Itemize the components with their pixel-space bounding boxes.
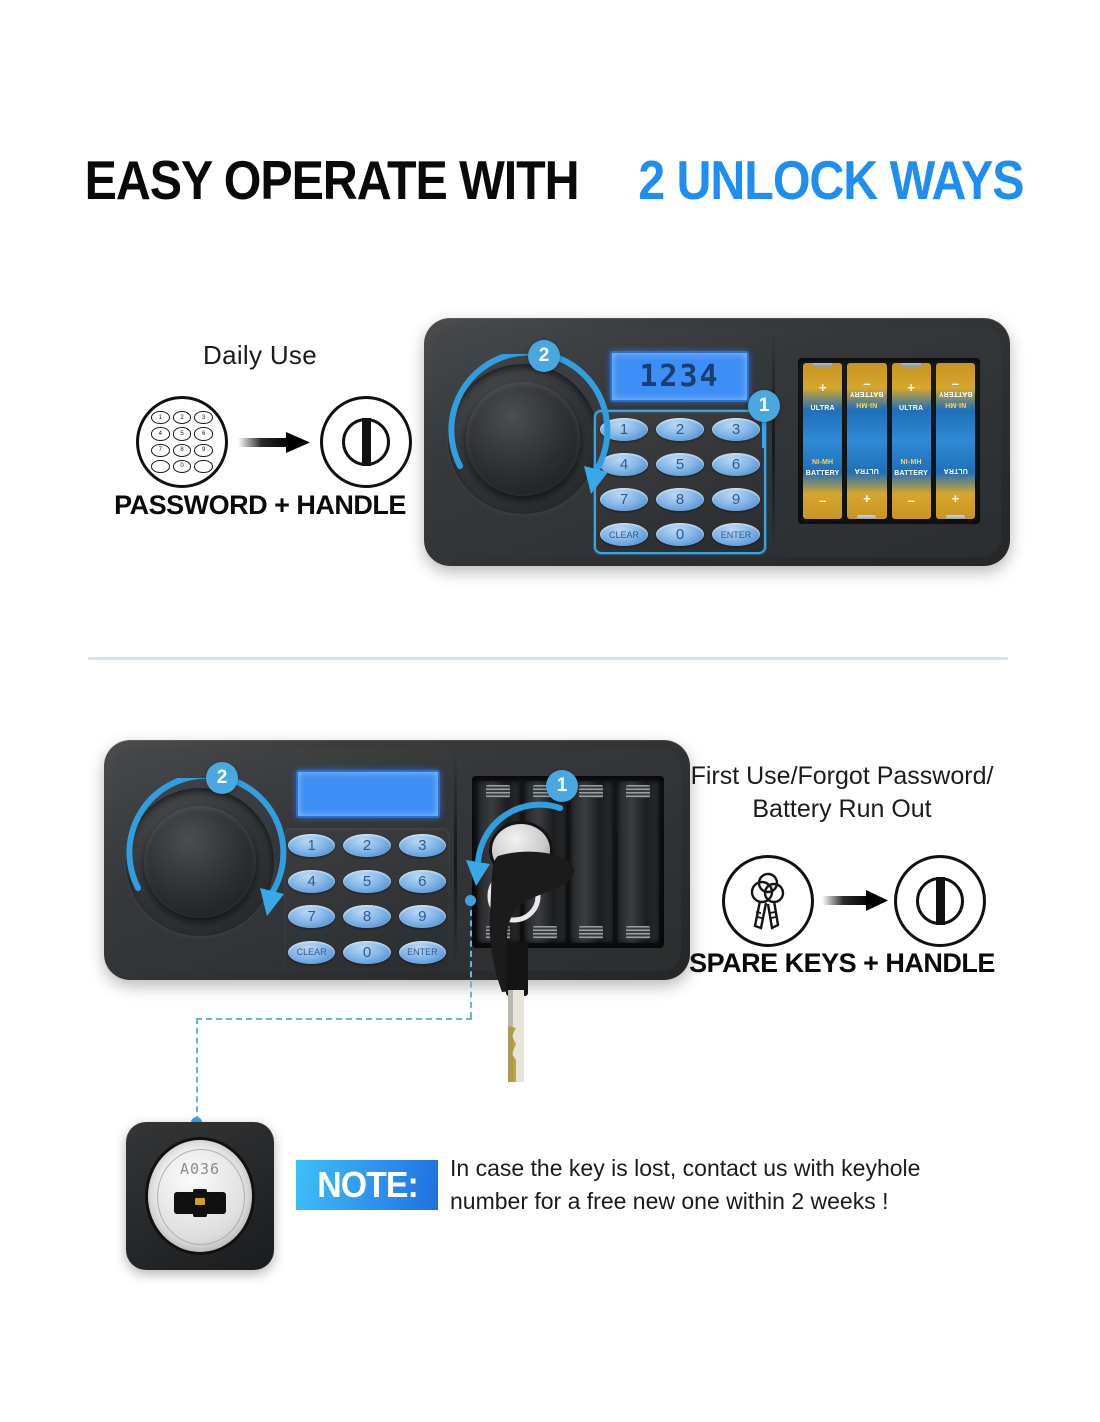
- keypad-key-enter[interactable]: ENTER: [395, 935, 450, 971]
- keypad-key-5[interactable]: 5: [339, 864, 394, 900]
- battery-chemistry: NI-MH: [892, 459, 931, 466]
- battery-plus-sign: +: [847, 492, 886, 505]
- battery-brand: ULTRA: [936, 467, 975, 474]
- lock-knob[interactable]: [466, 382, 580, 496]
- lock-panel-one: 2 1234 1 2 3 4 5 6 7 8 9 CLEAR 0 ENTER 1: [424, 318, 1010, 566]
- battery-minus-sign: –: [936, 377, 975, 390]
- keypad-key-6[interactable]: 6: [708, 447, 764, 482]
- keypad-key-8[interactable]: 8: [652, 482, 708, 517]
- handle-circle-icon: [894, 855, 986, 947]
- key-label: 5: [343, 870, 391, 893]
- battery-chemistry: NI-MH: [847, 401, 886, 408]
- caption-line-1: First Use/Forgot Password/: [672, 760, 1012, 793]
- key-label: CLEAR: [600, 523, 648, 546]
- keypad-key-4[interactable]: 4: [596, 447, 652, 482]
- keypad-key-8[interactable]: 8: [339, 899, 394, 935]
- mini-key: 3: [194, 411, 213, 424]
- keys-glyph: [739, 870, 797, 932]
- battery-minus-sign: –: [803, 494, 842, 507]
- keypad-key-9[interactable]: 9: [395, 899, 450, 935]
- keypad-key-9[interactable]: 9: [708, 482, 764, 517]
- key-label: 9: [399, 905, 447, 928]
- password-handle-label: PASSWORD + HANDLE: [90, 490, 430, 521]
- connector-line-vertical-bottom: [196, 1018, 198, 1122]
- keypad-key-enter[interactable]: ENTER: [708, 517, 764, 552]
- section-divider: [88, 657, 1008, 660]
- keyhole-closeup: A036: [126, 1122, 274, 1270]
- battery-cell: + ULTRA NI-MH BATTERY –: [892, 363, 931, 519]
- keyhole-cylinder: A036: [148, 1140, 252, 1252]
- battery-plus-sign: +: [936, 492, 975, 505]
- mini-key: 0: [173, 460, 192, 473]
- key-label: 3: [399, 834, 447, 857]
- battery-type: BATTERY: [892, 470, 931, 477]
- key-label: ENTER: [712, 523, 760, 546]
- keypad-group[interactable]: 1 2 3 4 5 6 7 8 9 CLEAR 0 ENTER: [594, 410, 766, 554]
- lock-panel-two: 2 1 2 3 4 5 6 7 8 9 CLEAR 0 ENTER: [104, 740, 690, 980]
- lcd-display: 1234: [610, 351, 749, 402]
- keypad-key-clear[interactable]: CLEAR: [596, 517, 652, 552]
- mini-key: 5: [173, 427, 192, 440]
- keypad-key-1[interactable]: 1: [284, 828, 339, 864]
- handle-knob-glyph: [916, 877, 964, 925]
- mini-key: 1: [151, 411, 170, 424]
- mini-key: 2: [173, 411, 192, 424]
- page-title: EASY OPERATE WITH 2 UNLOCK WAYS: [0, 148, 1100, 212]
- note-text: In case the key is lost, contact us with…: [450, 1152, 990, 1217]
- keypad-key-6[interactable]: 6: [395, 864, 450, 900]
- step-badge-keyhole: 1: [546, 770, 578, 802]
- key-label: 2: [343, 834, 391, 857]
- lcd-display: [296, 770, 440, 818]
- battery-cell: – NI-MH BATTERY ULTRA +: [936, 363, 975, 519]
- note-badge-label: NOTE:: [317, 1164, 418, 1206]
- panel-divider: [454, 750, 457, 970]
- mini-key: 9: [194, 444, 213, 457]
- battery-terminal: [946, 515, 965, 519]
- keypad-key-2[interactable]: 2: [339, 828, 394, 864]
- keypad-key-5[interactable]: 5: [652, 447, 708, 482]
- keypad-key-clear[interactable]: CLEAR: [284, 935, 339, 971]
- section-two-caption: First Use/Forgot Password/ Battery Run O…: [672, 760, 1012, 826]
- keypad-circle-icon: 1 2 3 4 5 6 7 8 9 0: [136, 396, 228, 488]
- panel-divider: [772, 328, 775, 556]
- connector-line-horizontal: [196, 1018, 472, 1020]
- key-label: 0: [656, 523, 704, 546]
- mini-keypad-glyph: 1 2 3 4 5 6 7 8 9 0: [151, 411, 213, 473]
- key-label: CLEAR: [288, 941, 336, 964]
- battery-minus-sign: –: [892, 494, 931, 507]
- battery-terminal: [902, 363, 921, 367]
- key-label: 8: [343, 905, 391, 928]
- keypad-group[interactable]: 1 2 3 4 5 6 7 8 9 CLEAR 0 ENTER: [284, 828, 450, 970]
- keypad-key-0[interactable]: 0: [652, 517, 708, 552]
- arrow-right-icon: [822, 888, 888, 912]
- mini-key: 7: [151, 444, 170, 457]
- battery-brand: ULTRA: [847, 467, 886, 474]
- keypad-key-0[interactable]: 0: [339, 935, 394, 971]
- handle-knob-glyph: [342, 418, 390, 466]
- battery-type: BATTERY: [936, 390, 975, 397]
- battery-compartment: + ULTRA NI-MH BATTERY – – NI-MH BATTERY …: [798, 358, 980, 524]
- step-badge-knob-1: 2: [528, 340, 560, 372]
- title-black-part: EASY OPERATE WITH: [84, 148, 578, 212]
- battery-minus-sign: –: [847, 377, 886, 390]
- key-label: 7: [288, 905, 336, 928]
- keyway-pin: [195, 1198, 205, 1205]
- key-label: 3: [712, 418, 760, 441]
- key-label: 1: [288, 834, 336, 857]
- battery-plus-sign: +: [892, 381, 931, 394]
- mini-key: [151, 460, 170, 473]
- step-badge-stem: [762, 422, 764, 448]
- battery-type: BATTERY: [803, 470, 842, 477]
- key-label: 1: [600, 418, 648, 441]
- battery-cell: – NI-MH BATTERY ULTRA +: [847, 363, 886, 519]
- battery-cell: + ULTRA NI-MH BATTERY –: [803, 363, 842, 519]
- keypad-key-3[interactable]: 3: [395, 828, 450, 864]
- key-label: 6: [712, 453, 760, 476]
- key-label: 6: [399, 870, 447, 893]
- key-label: 7: [600, 488, 648, 511]
- battery-brand: ULTRA: [803, 405, 842, 412]
- key-label: 0: [343, 941, 391, 964]
- arrow-right-icon: [238, 430, 310, 454]
- lcd-value: 1234: [639, 359, 719, 394]
- key-label: 5: [656, 453, 704, 476]
- step-badge-knob-2: 2: [206, 762, 238, 794]
- key-label: 9: [712, 488, 760, 511]
- key-label: ENTER: [399, 941, 447, 964]
- keypad-key-7[interactable]: 7: [284, 899, 339, 935]
- spare-keys-handle-label: SPARE KEYS + HANDLE: [660, 948, 1024, 979]
- battery-plus-sign: +: [803, 381, 842, 394]
- mini-key: 4: [151, 427, 170, 440]
- keyhole-number: A036: [148, 1160, 252, 1178]
- mini-key: 6: [194, 427, 213, 440]
- battery-slot: [617, 781, 660, 943]
- battery-terminal: [813, 363, 832, 367]
- keypad-key-1[interactable]: 1: [596, 412, 652, 447]
- key-label: 4: [600, 453, 648, 476]
- lock-knob[interactable]: [144, 806, 256, 918]
- mini-key: 8: [173, 444, 192, 457]
- keypad-key-7[interactable]: 7: [596, 482, 652, 517]
- battery-type: BATTERY: [847, 390, 886, 397]
- key-label: 4: [288, 870, 336, 893]
- mini-key: [194, 460, 213, 473]
- caption-line-2: Battery Run Out: [672, 793, 1012, 826]
- battery-brand: ULTRA: [892, 405, 931, 412]
- keypad-key-4[interactable]: 4: [284, 864, 339, 900]
- key-label: 2: [656, 418, 704, 441]
- battery-terminal: [857, 515, 876, 519]
- spare-keys-circle-icon: [722, 855, 814, 947]
- key-label: 8: [656, 488, 704, 511]
- keypad-key-2[interactable]: 2: [652, 412, 708, 447]
- daily-use-caption: Daily Use: [130, 340, 390, 371]
- step-badge-keypad-1: 1: [748, 390, 780, 422]
- battery-chemistry: NI-MH: [803, 459, 842, 466]
- handle-circle-icon: [320, 396, 412, 488]
- title-blue-part: 2 UNLOCK WAYS: [638, 148, 1023, 212]
- note-badge: NOTE:: [296, 1160, 438, 1210]
- battery-chemistry: NI-MH: [936, 401, 975, 408]
- spare-key-graphic: [468, 830, 578, 1090]
